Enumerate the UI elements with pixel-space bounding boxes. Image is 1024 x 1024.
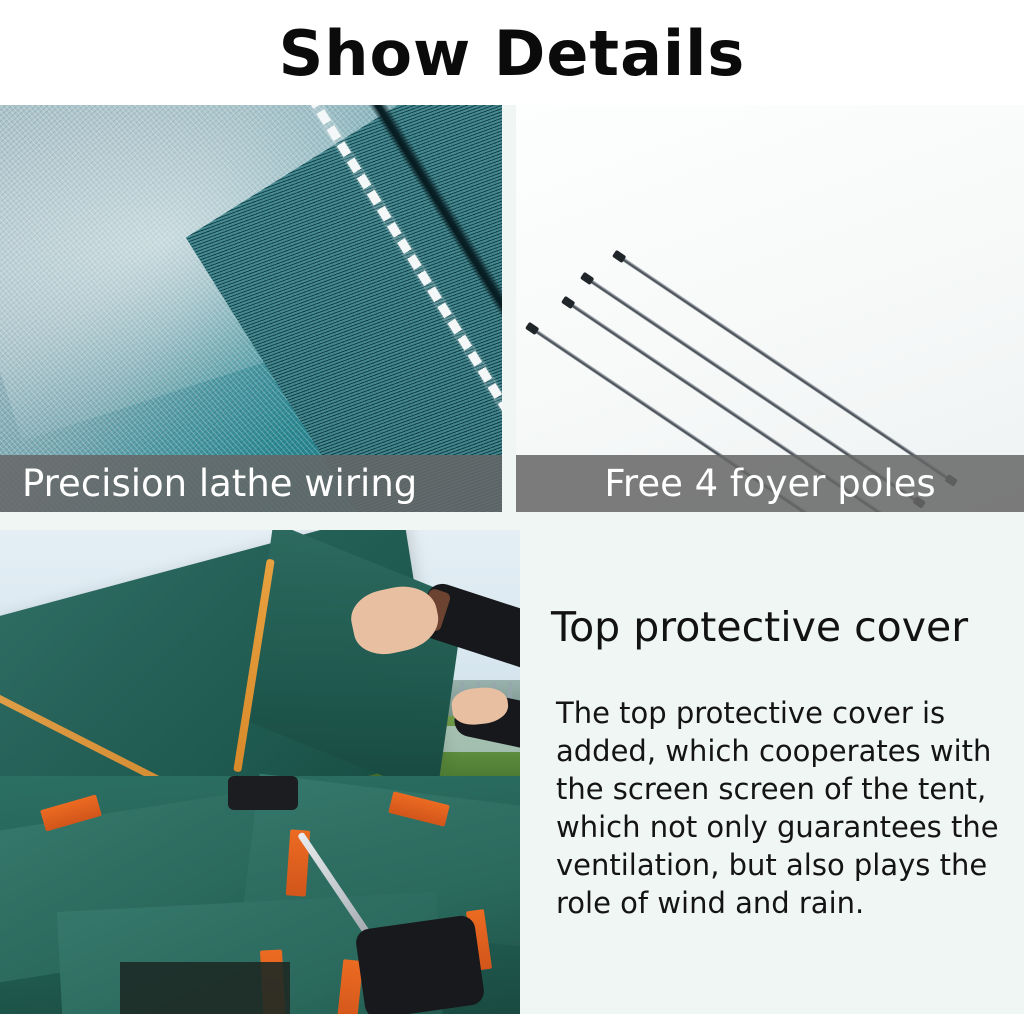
info-description: The top protective cover is added, which… bbox=[551, 694, 1024, 922]
tent-poles-photo bbox=[516, 105, 1024, 512]
fabric-caption-bar: Precision lathe wiring bbox=[0, 455, 502, 512]
poles-background bbox=[516, 105, 1024, 512]
top-cover-info-block: Top protective cover The top protective … bbox=[551, 605, 1024, 922]
fabric-caption-label: Precision lathe wiring bbox=[22, 465, 417, 502]
page-title: Show Details bbox=[279, 23, 746, 85]
fabric-detail-photo bbox=[0, 105, 502, 512]
poles-caption-bar: Free 4 foyer poles bbox=[516, 455, 1024, 512]
page-header: Show Details bbox=[0, 0, 1024, 105]
poles-caption-label: Free 4 foyer poles bbox=[604, 465, 935, 502]
tent-frame-hub bbox=[228, 776, 298, 810]
bottom-white-strip bbox=[0, 1014, 1024, 1024]
info-heading: Top protective cover bbox=[551, 605, 1024, 650]
product-detail-page: Show Details Precision lathe wiring Free… bbox=[0, 0, 1024, 1024]
storage-bag bbox=[354, 914, 485, 1020]
top-cover-photo bbox=[0, 530, 520, 1024]
